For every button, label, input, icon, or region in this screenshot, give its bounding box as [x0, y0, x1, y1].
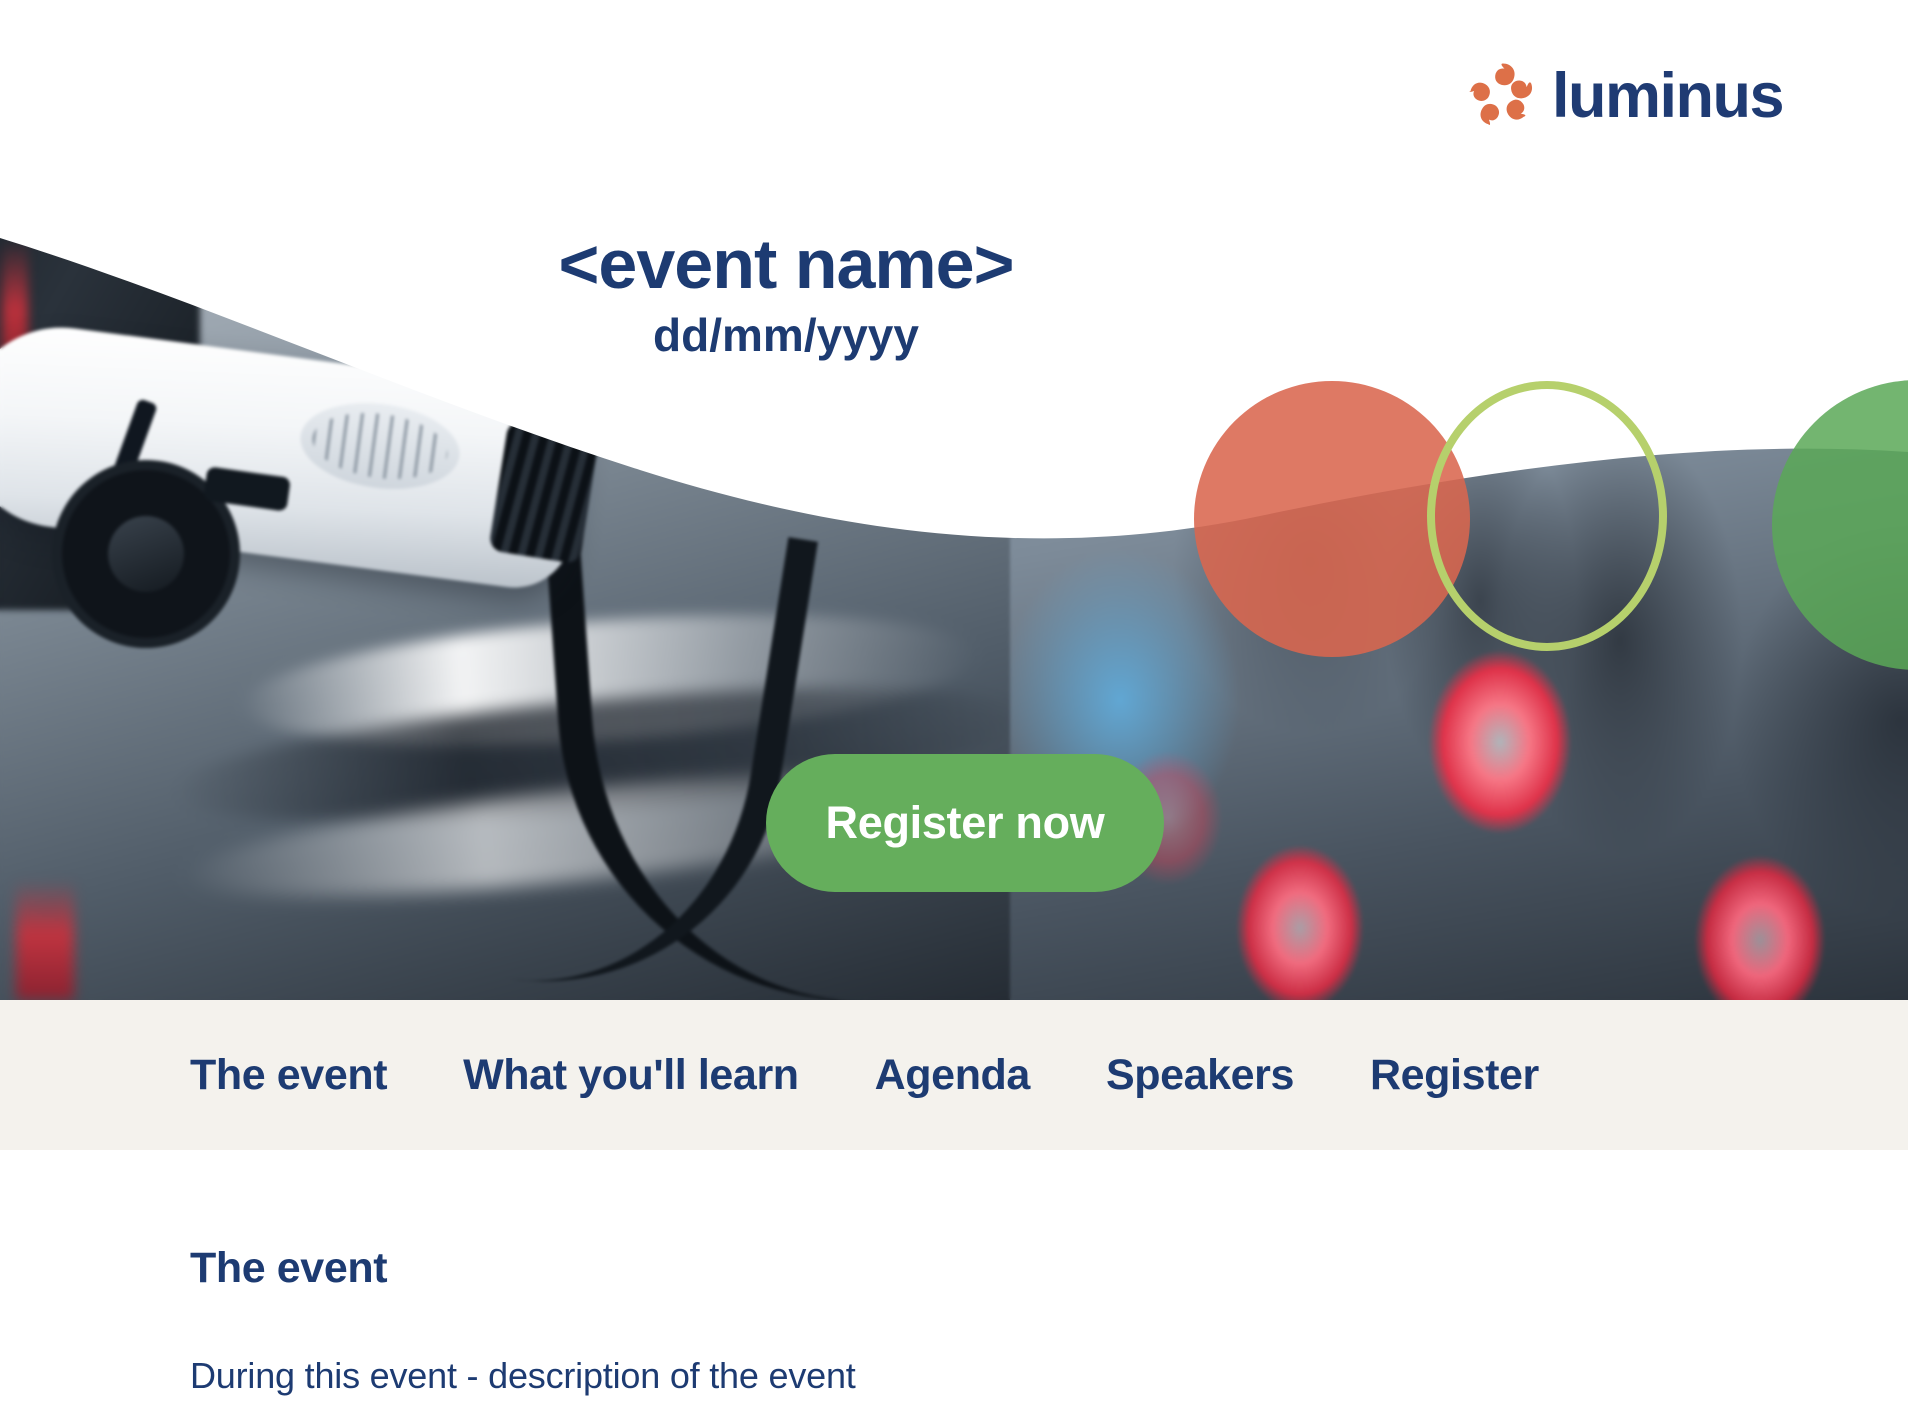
event-date: dd/mm/yyyy	[0, 310, 1572, 361]
register-now-button[interactable]: Register now	[766, 754, 1164, 892]
photo-red-accent-lower	[16, 880, 74, 1000]
logo-wordmark: luminus	[1552, 65, 1783, 128]
nav-item-what-youll-learn[interactable]: What you'll learn	[463, 1051, 799, 1100]
lime-ring-circle-decoration	[1427, 381, 1667, 651]
main-content: The event During this event - descriptio…	[0, 1150, 1908, 1404]
the-event-description: During this event - description of the e…	[190, 1355, 1908, 1397]
event-name-title: <event name>	[0, 228, 1572, 302]
the-event-heading: The event	[190, 1244, 1908, 1293]
nav-item-agenda[interactable]: Agenda	[875, 1051, 1030, 1100]
pinwheel-flower-icon	[1466, 59, 1540, 133]
nav-item-the-event[interactable]: The event	[190, 1051, 387, 1100]
hero-banner: luminus <event name> dd/mm/yyyy Register…	[0, 0, 1908, 1000]
luminus-logo[interactable]: luminus	[1466, 60, 1783, 132]
section-navigation-bar: The event What you'll learn Agenda Speak…	[0, 1000, 1908, 1150]
nav-item-register[interactable]: Register	[1370, 1051, 1539, 1100]
nav-item-speakers[interactable]: Speakers	[1106, 1051, 1294, 1100]
hero-text-block: <event name> dd/mm/yyyy	[0, 228, 1572, 360]
